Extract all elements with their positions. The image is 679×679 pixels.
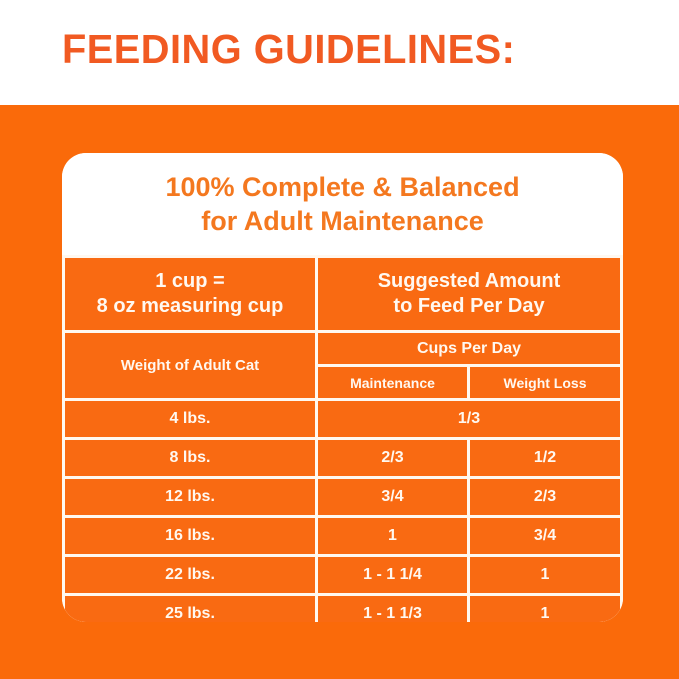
table-row: 16 lbs.13/4 [65,518,620,554]
cell-weight: 8 lbs. [65,440,315,476]
cell-weight: 12 lbs. [65,479,315,515]
cell-weight-loss: 1 [470,596,620,622]
table-body: 4 lbs.1/38 lbs.2/31/212 lbs.3/42/316 lbs… [65,401,620,622]
cell-weight-loss: 1/2 [470,440,620,476]
table-row: 22 lbs.1 - 1 1/41 [65,557,620,593]
feeding-guidelines-card: 100% Complete & Balanced for Adult Maint… [62,153,623,622]
cell-weight: 4 lbs. [65,401,315,437]
top-white-band: FEEDING GUIDELINES: [0,0,679,105]
cell-measuring-cup: 1 cup = 8 oz measuring cup [65,258,315,330]
page-title: FEEDING GUIDELINES: [62,24,515,74]
header-maintenance: Maintenance [318,367,467,398]
table-row: 8 lbs.2/31/2 [65,440,620,476]
table-row: 4 lbs.1/3 [65,401,620,437]
cup-line-2: 8 oz measuring cup [97,294,284,319]
cell-amount-merged: 1/3 [318,401,620,437]
cell-maintenance: 2/3 [318,440,467,476]
cell-weight-loss: 3/4 [470,518,620,554]
table-intro-row: 1 cup = 8 oz measuring cup Suggested Amo… [65,258,620,330]
table-header-row: Weight of Adult Cat Cups Per Day Mainten… [65,333,620,398]
cell-weight-loss: 2/3 [470,479,620,515]
cell-maintenance: 1 - 1 1/4 [318,557,467,593]
cup-line-1: 1 cup = [97,269,284,294]
cell-weight: 25 lbs. [65,596,315,622]
header-cups-stack: Cups Per Day Maintenance Weight Loss [318,333,620,398]
cell-maintenance: 1 [318,518,467,554]
cell-weight: 16 lbs. [65,518,315,554]
cell-maintenance: 3/4 [318,479,467,515]
table-row: 25 lbs.1 - 1 1/31 [65,596,620,622]
card-header: 100% Complete & Balanced for Adult Maint… [62,153,623,255]
feeding-table: 1 cup = 8 oz measuring cup Suggested Amo… [62,255,623,622]
header-subrow: Maintenance Weight Loss [318,367,620,398]
header-weight-loss: Weight Loss [470,367,620,398]
suggested-line-1: Suggested Amount [378,269,561,294]
feeding-guidelines-page: FEEDING GUIDELINES: 100% Complete & Bala… [0,0,679,679]
cell-maintenance: 1 - 1 1/3 [318,596,467,622]
cell-suggested-amount: Suggested Amount to Feed Per Day [318,258,620,330]
card-heading-line-2: for Adult Maintenance [201,204,484,238]
table-row: 12 lbs.3/42/3 [65,479,620,515]
cell-weight-loss: 1 [470,557,620,593]
cell-weight: 22 lbs. [65,557,315,593]
card-heading-line-1: 100% Complete & Balanced [165,170,519,204]
header-cups-per-day: Cups Per Day [318,333,620,364]
header-weight-of-adult-cat: Weight of Adult Cat [65,333,315,398]
suggested-line-2: to Feed Per Day [378,294,561,319]
